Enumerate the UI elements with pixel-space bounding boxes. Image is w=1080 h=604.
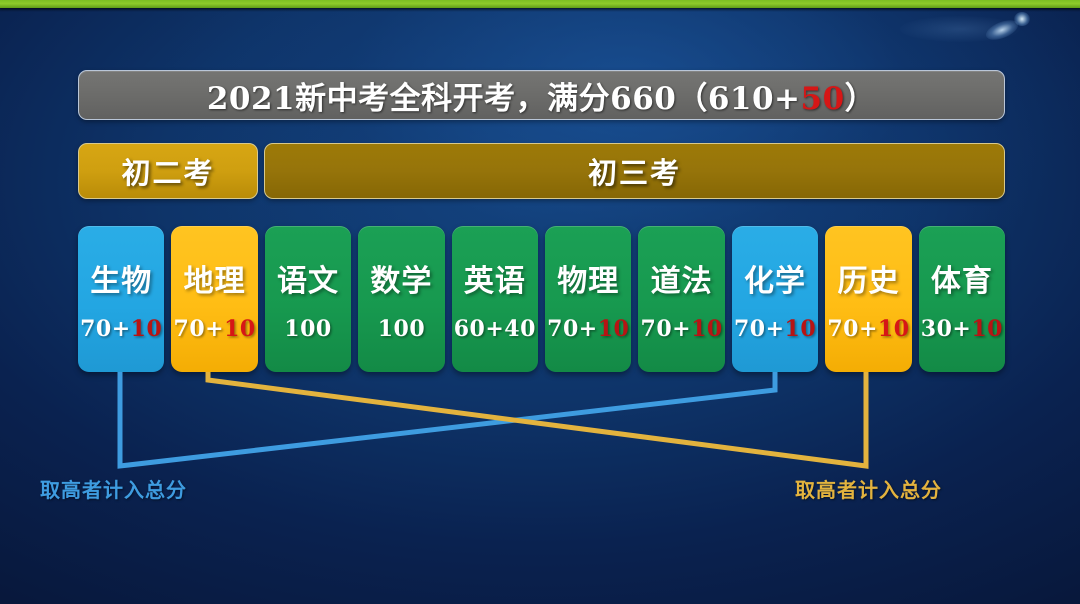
subject-card-physics[interactable]: 物理 70+10: [545, 226, 631, 372]
subject-name: 道法: [651, 256, 713, 300]
subject-name: 化学: [744, 256, 806, 300]
annotation-left-take-higher: 取高者计入总分: [40, 474, 187, 503]
lens-flare-small-icon: [1014, 12, 1030, 26]
score-main: 70+: [641, 316, 692, 342]
annotation-right-take-higher: 取高者计入总分: [795, 474, 942, 503]
subject-score: 70+10: [80, 316, 162, 342]
subject-card-chinese[interactable]: 语文 100: [265, 226, 351, 372]
title-suffix: ）: [845, 81, 877, 117]
lens-flare-large-icon: [983, 16, 1021, 44]
subject-card-history[interactable]: 历史 70+10: [825, 226, 911, 372]
score-main: 30+: [921, 316, 972, 342]
score-bonus: 10: [131, 316, 163, 342]
score-main: 60+40: [454, 316, 536, 342]
subject-score: 70+10: [734, 316, 816, 342]
grade-bar-grade8-label: 初二考: [121, 150, 214, 192]
score-bonus: 10: [878, 316, 910, 342]
score-main: 70+: [827, 316, 878, 342]
grade-bar-grade9: 初三考: [264, 143, 1005, 199]
score-bonus: 10: [971, 316, 1003, 342]
subject-name: 体育: [931, 256, 993, 300]
score-bonus: 10: [691, 316, 723, 342]
subject-name: 语文: [277, 256, 339, 300]
score-main: 70+: [80, 316, 131, 342]
score-main: 70+: [547, 316, 598, 342]
top-green-strip: [0, 0, 1080, 8]
subject-name: 英语: [464, 256, 526, 300]
subject-card-pe[interactable]: 体育 30+10: [919, 226, 1005, 372]
subject-score: 100: [284, 316, 331, 342]
subject-name: 生物: [90, 256, 152, 300]
subject-score: 70+10: [174, 316, 256, 342]
slide-canvas: 2021新中考全科开考，满分660（610+50） 初二考 初三考 生物 70+…: [0, 0, 1080, 604]
page-title: 2021新中考全科开考，满分660（610+50）: [207, 73, 876, 118]
subject-score: 70+10: [827, 316, 909, 342]
subject-card-geography[interactable]: 地理 70+10: [171, 226, 257, 372]
score-main: 100: [284, 316, 331, 342]
score-bonus: 10: [224, 316, 256, 342]
subject-name: 物理: [557, 256, 619, 300]
subject-name: 数学: [370, 256, 432, 300]
score-bonus: 10: [598, 316, 630, 342]
connector-line-blue: [120, 372, 775, 466]
score-main: 70+: [174, 316, 225, 342]
title-bar: 2021新中考全科开考，满分660（610+50）: [78, 70, 1005, 120]
subject-name: 历史: [837, 256, 899, 300]
subject-card-politics-law[interactable]: 道法 70+10: [638, 226, 724, 372]
top-strip-shadow: [0, 8, 1080, 12]
subject-score: 70+10: [641, 316, 723, 342]
subject-card-biology[interactable]: 生物 70+10: [78, 226, 164, 372]
subject-score: 30+10: [921, 316, 1003, 342]
score-main: 100: [378, 316, 425, 342]
score-main: 70+: [734, 316, 785, 342]
subject-score: 70+10: [547, 316, 629, 342]
subject-name: 地理: [184, 256, 246, 300]
score-bonus: 10: [785, 316, 817, 342]
subject-card-english[interactable]: 英语 60+40: [452, 226, 538, 372]
subject-score: 60+40: [454, 316, 536, 342]
lens-flare-haze-icon: [900, 16, 1020, 42]
subject-score: 100: [378, 316, 425, 342]
connector-line-gold: [208, 372, 866, 466]
title-prefix: 2021新中考全科开考，满分660（610+: [207, 81, 801, 117]
subject-card-math[interactable]: 数学 100: [358, 226, 444, 372]
grade-bar-grade8: 初二考: [78, 143, 258, 199]
title-highlight: 50: [801, 81, 845, 117]
subject-card-chemistry[interactable]: 化学 70+10: [732, 226, 818, 372]
subject-card-row: 生物 70+10 地理 70+10 语文 100 数学 100 英语 60+40…: [78, 226, 1005, 372]
grade-bar-grade9-label: 初三考: [588, 150, 681, 192]
